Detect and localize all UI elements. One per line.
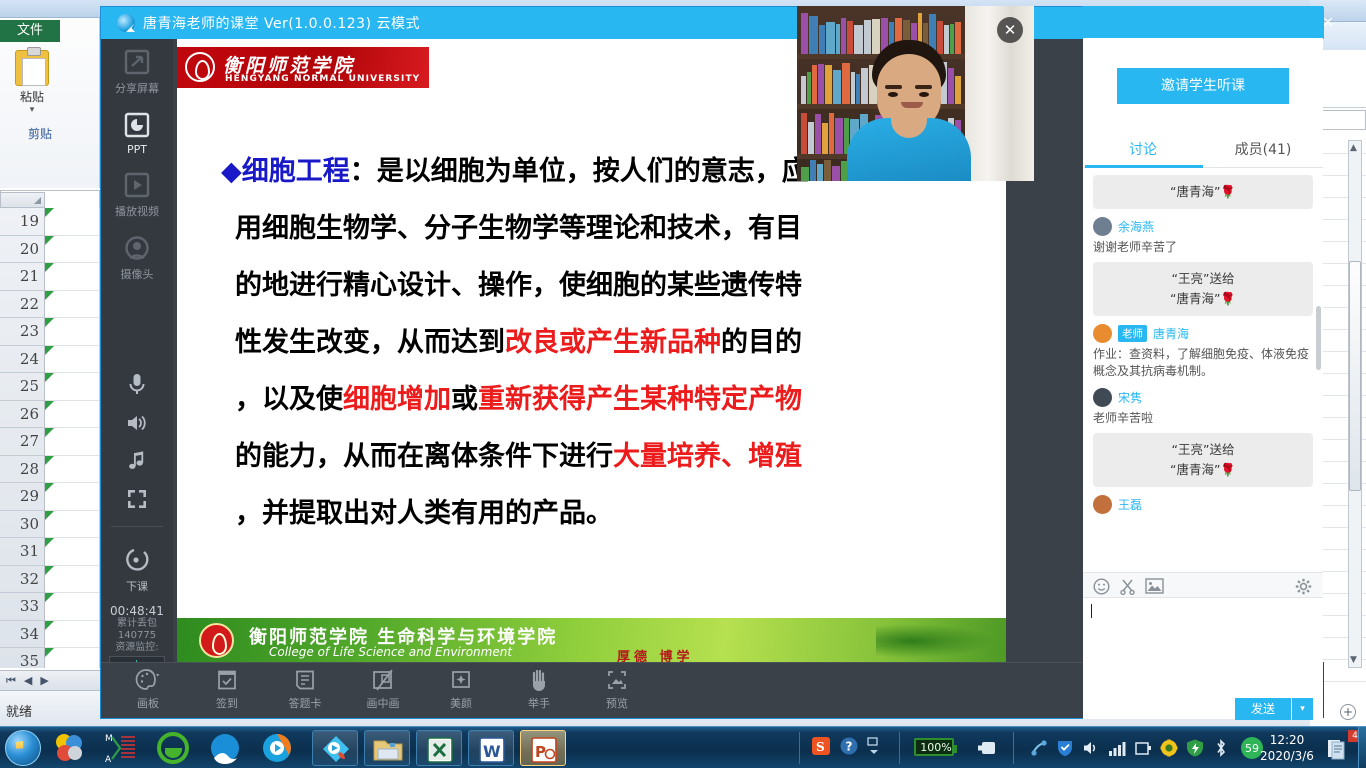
tray-divider-3: [1013, 732, 1014, 764]
excel-cell[interactable]: [45, 621, 99, 649]
book-spine: [809, 16, 818, 54]
excel-row-header[interactable]: 22: [0, 291, 44, 319]
sogou-input-icon[interactable]: S: [812, 737, 830, 755]
battery-percent: 100%: [916, 740, 956, 756]
chat-message-text: 老师辛苦啦: [1093, 410, 1313, 427]
emoji-icon[interactable]: [1093, 578, 1111, 595]
music-note-icon: [126, 450, 148, 472]
network-share-icon[interactable]: [1030, 739, 1048, 757]
svg-text:M: M: [105, 734, 113, 744]
excel-cell-column[interactable]: [45, 208, 100, 668]
chat-message-text: 谢谢老师辛苦了: [1093, 239, 1313, 256]
rail-item-camera[interactable]: 摄像头: [101, 225, 173, 288]
status-badge: 老师: [1118, 325, 1147, 342]
slide-header-en: HENGYANG NORMAL UNIVERSITY: [225, 74, 420, 84]
chevron-down-icon[interactable]: ▾: [4, 105, 60, 115]
volume-icon[interactable]: [1082, 739, 1100, 757]
book-spine: [801, 13, 808, 54]
excel-row-header[interactable]: 29: [0, 483, 44, 511]
classroom-logo-icon: [117, 14, 135, 32]
start-orb-icon[interactable]: [5, 730, 41, 766]
toolbar-item-raise-hand[interactable]: 举手: [508, 668, 570, 711]
excel-row-header[interactable]: 31: [0, 538, 44, 566]
class-timer: 00:48:41: [101, 604, 173, 618]
taskbar-window-excel[interactable]: [416, 730, 462, 766]
figure-mouth: [901, 102, 923, 108]
figure-eye-right: [919, 92, 929, 97]
slide-bullet-icon: ◆: [221, 156, 242, 187]
excel-right-formula-bar[interactable]: [1320, 110, 1366, 130]
chat-message: 余海燕谢谢老师辛苦了: [1093, 217, 1313, 256]
power-plug-icon[interactable]: [978, 740, 996, 758]
image-icon[interactable]: [1145, 578, 1163, 595]
excel-clipboard-group-label: 剪贴: [28, 125, 52, 142]
excel-row-header[interactable]: 27: [0, 428, 44, 456]
windows-taskbar: M A: [0, 726, 1366, 768]
sheet-first-icon[interactable]: ⏮: [6, 674, 16, 688]
rail-item-play-video[interactable]: 播放视频: [101, 162, 173, 225]
ppt-icon: [122, 110, 152, 140]
svg-text:P: P: [535, 743, 546, 761]
rail-item-ppt[interactable]: PPT: [101, 102, 173, 162]
slide-text-segment: ，并提取出对人类有用的产品。: [235, 498, 613, 529]
help-icon[interactable]: ?: [840, 737, 858, 755]
rail-item-music[interactable]: [101, 444, 173, 482]
excel-row-header[interactable]: 23: [0, 318, 44, 346]
chat-message-author[interactable]: 王磊: [1118, 496, 1142, 513]
excel-cell[interactable]: [45, 318, 99, 346]
book-spine: [835, 118, 843, 154]
microphone-icon: [126, 372, 148, 396]
book-spine: [801, 76, 806, 104]
svg-text:S: S: [816, 740, 825, 754]
clock-time: 12:20: [1254, 732, 1320, 748]
resource-monitor-label: 资源监控:: [101, 642, 173, 654]
book-spine: [824, 160, 831, 181]
slide-footer-en: College of Life Science and Environment: [269, 645, 512, 659]
scroll-up-arrow-icon[interactable]: ▲: [1350, 143, 1357, 153]
excel-sheet-navigation[interactable]: ⏮ ◀ ▶: [0, 670, 100, 690]
show-desktop-button[interactable]: [1358, 727, 1366, 768]
taskbar-icon-mathtype[interactable]: M A: [104, 731, 138, 765]
slide-text-segment: 用细胞生物学、分子生物学等理论和技术，有目: [235, 213, 802, 244]
toolbar-label-palette: 画板: [117, 695, 179, 711]
toolbar-label-raise-hand: 举手: [508, 695, 570, 711]
toolbar-label-picture-in-picture: 画中画: [352, 695, 414, 711]
avatar[interactable]: [1093, 324, 1112, 343]
rail-item-fullscreen[interactable]: [101, 482, 173, 520]
book-spine: [822, 123, 828, 154]
slide-text-segment: 改良或产生新品种: [505, 327, 721, 358]
antivirus-shield-icon[interactable]: [1186, 739, 1204, 757]
chat-message-author[interactable]: 余海燕: [1118, 218, 1154, 235]
rail-label-ppt: PPT: [101, 143, 173, 156]
webcam-video-window[interactable]: ✕: [797, 6, 1034, 181]
excel-row-header[interactable]: 34: [0, 621, 44, 649]
gift-message-line: “王亮”送给: [1099, 440, 1307, 460]
send-button[interactable]: 发送: [1235, 698, 1291, 720]
tab-members[interactable]: 成员(41): [1203, 134, 1323, 167]
toolbar-item-palette[interactable]: 画板: [117, 668, 179, 711]
slide-colon: ：: [350, 156, 377, 187]
excel-vertical-scrollbar[interactable]: ▲ ▼: [1348, 140, 1362, 668]
toolbar-item-checkin[interactable]: 签到: [196, 668, 258, 711]
bluetooth-icon[interactable]: [1212, 739, 1230, 757]
book-spine: [819, 25, 825, 54]
battery-indicator[interactable]: 100%: [914, 738, 954, 756]
excel-row-header[interactable]: 19: [0, 208, 44, 236]
chat-input-toolbar: [1083, 572, 1323, 598]
network-signal-icon[interactable]: [1108, 739, 1126, 757]
excel-cell[interactable]: [45, 483, 99, 511]
excel-cell[interactable]: [45, 373, 99, 401]
gift-message-line: “唐青海”🌹: [1099, 460, 1307, 480]
scrollbar-thumb[interactable]: [1349, 261, 1361, 491]
chat-message-header: 王磊: [1093, 495, 1313, 514]
gift-message-line: “唐青海”🌹: [1099, 289, 1307, 309]
chat-message-text: 作业：查资料，了解细胞免疫、体液免疫概念及其抗病毒机制。: [1093, 346, 1313, 380]
excel-row-header[interactable]: 21: [0, 263, 44, 291]
excel-row-header[interactable]: 24: [0, 346, 44, 374]
tray-expand-icon[interactable]: [866, 736, 884, 754]
excel-row-header[interactable]: 30: [0, 511, 44, 539]
taskbar-window-word[interactable]: W: [468, 730, 514, 766]
chat-scrollbar-thumb[interactable]: [1316, 306, 1321, 370]
excel-cell[interactable]: [45, 566, 99, 594]
taskbar-icon-browser-360[interactable]: [156, 731, 190, 765]
slide-text-segment: 性发生改变，从而达到: [235, 327, 505, 358]
screen-root: 文件 粘贴 ▾ 剪贴 19202122232425262728293031323…: [0, 0, 1366, 768]
slide-text-body: ◆细胞工程：是以细胞为单位，按人们的意志，应用细胞生物学、分子生物学等理论和技术…: [221, 143, 996, 542]
excel-cell[interactable]: [45, 263, 99, 291]
security-shield-icon[interactable]: [1056, 739, 1074, 757]
scroll-down-arrow-icon[interactable]: ▼: [1350, 655, 1357, 665]
taskbar-icon-windows-media[interactable]: [52, 731, 86, 765]
book-spine: [812, 65, 817, 104]
chat-message-header: 余海燕: [1093, 217, 1313, 236]
chat-input-field[interactable]: [1083, 598, 1323, 692]
picture-in-picture-icon: [370, 668, 396, 692]
excel-cell[interactable]: [45, 648, 99, 668]
slide-header-banner: 衡阳师范学院 HENGYANG NORMAL UNIVERSITY: [177, 47, 429, 88]
chat-message: 宋隽老师辛苦啦: [1093, 388, 1313, 427]
gift-message-line: “唐青海”🌹: [1099, 182, 1307, 202]
beauty-filter-icon: [448, 668, 474, 692]
settings-gear-icon[interactable]: [1295, 578, 1313, 595]
slide-text-segment: ，以及使: [235, 384, 343, 415]
excel-cell[interactable]: [45, 401, 99, 429]
book-spine: [807, 72, 811, 104]
excel-status-text: 就绪: [6, 701, 32, 720]
clipboard-icon: [15, 50, 49, 86]
invite-students-button[interactable]: 邀请学生听课: [1117, 68, 1289, 104]
book-spine: [825, 65, 832, 104]
rail-label-end-class: 下课: [101, 578, 173, 594]
gift-message-bubble: “王亮”送给“唐青海”🌹: [1093, 262, 1313, 316]
fullscreen-icon: [126, 488, 148, 510]
rail-item-share-screen[interactable]: 分享屏幕: [101, 39, 173, 102]
book-spine: [815, 114, 821, 154]
notification-center-icon[interactable]: [1326, 738, 1346, 760]
book-spine: [833, 70, 841, 104]
book-spine: [842, 63, 850, 104]
scissors-icon[interactable]: [1119, 578, 1137, 595]
tab-discussion[interactable]: 讨论: [1083, 134, 1203, 167]
tray-divider-2: [899, 732, 900, 764]
taskbar-window-powerpoint[interactable]: P: [520, 730, 566, 766]
rail-item-speaker[interactable]: [101, 406, 173, 444]
chat-panel: 邀请学生听课 讨论 成员(41) “唐青海”🌹余海燕谢谢老师辛苦了“王亮”送给“…: [1083, 6, 1323, 719]
taskbar-icon-qq-browser[interactable]: [208, 731, 242, 765]
slide-title-term: 细胞工程: [242, 156, 350, 187]
excel-row-header[interactable]: 33: [0, 593, 44, 621]
figure-brow-left: [885, 85, 902, 89]
rail-label-share-screen: 分享屏幕: [101, 80, 173, 96]
gift-message-line: “王亮”送给: [1099, 269, 1307, 289]
chat-message-list[interactable]: “唐青海”🌹余海燕谢谢老师辛苦了“王亮”送给“唐青海”🌹老师唐青海作业：查资料，…: [1083, 169, 1323, 569]
excel-select-all-corner[interactable]: [0, 192, 45, 208]
excel-paste-label: 粘贴: [4, 88, 60, 105]
slide-text-segment: 细胞增加: [343, 384, 451, 415]
slide-text-segment: 的目的: [721, 327, 802, 358]
rail-item-end-class[interactable]: 下课: [101, 533, 173, 600]
preview-icon: [604, 668, 630, 692]
rail-divider: [111, 526, 163, 527]
send-options-chevron-down-icon[interactable]: ▾: [1292, 698, 1313, 720]
end-class-icon: [122, 545, 152, 575]
excel-row-header[interactable]: 32: [0, 566, 44, 594]
toolbar-item-answer-card[interactable]: 答题卡: [274, 668, 336, 711]
book-spine: [829, 113, 834, 154]
toolbar-item-preview[interactable]: 预览: [586, 668, 648, 711]
slide-line: 的能力，从而在离体条件下进行大量培养、增殖: [221, 428, 996, 485]
svg-text:?: ?: [846, 740, 853, 754]
slide-line: 的地进行精心设计、操作，使细胞的某些遗传特: [221, 257, 996, 314]
avatar[interactable]: [1093, 388, 1112, 407]
excel-row-header[interactable]: 26: [0, 401, 44, 429]
packet-loss-value: 140775: [101, 630, 173, 642]
chat-panel-header: [1083, 6, 1323, 38]
active-tab-underline: [1085, 165, 1203, 168]
gift-message-bubble: “王亮”送给“唐青海”🌹: [1093, 433, 1313, 487]
close-icon[interactable]: ✕: [997, 17, 1023, 43]
slide-text-segment: 的能力，从而在离体条件下进行: [235, 441, 613, 472]
chat-message: 王磊: [1093, 495, 1313, 514]
share-screen-icon: [122, 47, 152, 77]
excel-cell[interactable]: [45, 291, 99, 319]
chat-message-author[interactable]: 宋隽: [1118, 389, 1142, 406]
excel-cell[interactable]: [45, 346, 99, 374]
book-spine: [818, 64, 824, 104]
book-spine: [801, 167, 809, 181]
chat-message-author[interactable]: 唐青海: [1153, 325, 1189, 342]
taskbar-clock[interactable]: 12:20 2020/3/6: [1254, 732, 1320, 764]
rail-label-camera: 摄像头: [101, 266, 173, 282]
taskbar-window-explorer[interactable]: [364, 730, 410, 766]
packet-loss-label: 累计丢包: [101, 618, 173, 630]
book-spine: [808, 122, 814, 154]
excel-cell[interactable]: [45, 538, 99, 566]
chat-tabs: 讨论 成员(41): [1083, 134, 1323, 168]
slide-text-segment: 的地进行精心设计、操作，使细胞的某些遗传特: [235, 270, 802, 301]
svg-text:W: W: [483, 742, 501, 761]
clock-date: 2020/3/6: [1254, 748, 1320, 764]
book-spine: [817, 164, 823, 181]
teacher-video-figure: [853, 40, 965, 181]
excel-cell[interactable]: [45, 208, 99, 236]
toolbar-item-picture-in-picture[interactable]: 画中画: [352, 668, 414, 711]
leaf-decoration-icon: [876, 624, 996, 658]
book-spine: [801, 113, 807, 154]
book-spine: [832, 166, 840, 181]
slide-line: 性发生改变，从而达到改良或产生新品种的目的: [221, 314, 996, 371]
excel-cell[interactable]: [45, 428, 99, 456]
excel-right-ribbon-body: [1320, 50, 1366, 108]
taskbar-window-classroom[interactable]: [312, 730, 358, 766]
slide-line: ，并提取出对人类有用的产品。: [221, 485, 996, 542]
avatar[interactable]: [1093, 217, 1112, 236]
sheet-next-icon[interactable]: ▶: [40, 674, 48, 687]
toolbar-item-beauty-filter[interactable]: 美颜: [430, 668, 492, 711]
gift-message-bubble: “唐青海”🌹: [1093, 175, 1313, 209]
slide-text-segment: 重新获得产生某种特定产物: [478, 384, 802, 415]
svg-text:A: A: [105, 755, 112, 765]
slide-text-segment: 大量培养、增殖: [613, 441, 802, 472]
chat-message-header: 老师唐青海: [1093, 324, 1313, 343]
book-spine: [826, 22, 835, 54]
university-seal-icon: [185, 52, 215, 82]
usb-eject-icon[interactable]: [1134, 739, 1152, 757]
avatar[interactable]: [1093, 495, 1112, 514]
text-caret: [1091, 604, 1092, 618]
palette-icon: [135, 668, 161, 692]
excel-row-header[interactable]: 20: [0, 236, 44, 264]
speaker-icon: [125, 412, 149, 434]
toolbar-label-beauty-filter: 美颜: [430, 695, 492, 711]
excel-cell[interactable]: [45, 511, 99, 539]
play-video-icon: [122, 170, 152, 200]
toolbar-label-preview: 预览: [586, 695, 648, 711]
slide-line: 用细胞生物学、分子生物学等理论和技术，有目: [221, 200, 996, 257]
toolbar-label-answer-card: 答题卡: [274, 695, 336, 711]
raise-hand-icon: [526, 668, 552, 692]
chat-message: 老师唐青海作业：查资料，了解细胞免疫、体液免疫概念及其抗病毒机制。: [1093, 324, 1313, 380]
left-tool-rail: 分享屏幕 PPT 播放视频: [101, 39, 173, 718]
book-spine: [836, 24, 840, 54]
excel-row-headers: 1920212223242526272829303132333435363738…: [0, 208, 45, 668]
excel-cell[interactable]: [45, 593, 99, 621]
answer-card-icon: [292, 668, 318, 692]
sheet-prev-icon[interactable]: ◀: [24, 674, 32, 687]
app-title: 唐青海老师的课堂 Ver(1.0.0.123) 云模式: [143, 13, 420, 33]
chat-message-header: 宋隽: [1093, 388, 1313, 407]
excel-file-tab[interactable]: 文件: [0, 20, 60, 42]
slide-text-segment: 或: [451, 384, 478, 415]
checkin-icon: [214, 668, 240, 692]
slide-line: ，以及使细胞增加或重新获得产生某种特定产物: [221, 371, 996, 428]
college-seal-icon: [199, 623, 234, 658]
excel-paste-button[interactable]: 粘贴 ▾: [4, 50, 60, 115]
excel-row-header[interactable]: 28: [0, 456, 44, 484]
driver-booster-icon[interactable]: [1160, 739, 1178, 757]
slide-text-segment: 是以细胞为单位，按人们的意志，应: [377, 156, 809, 187]
book-spine: [841, 18, 846, 54]
rail-label-play-video: 播放视频: [101, 203, 173, 219]
taskbar-icon-media-player[interactable]: [260, 731, 294, 765]
camera-icon: [122, 233, 152, 263]
excel-cell[interactable]: [45, 236, 99, 264]
figure-eye-left: [888, 92, 898, 97]
toolbar-label-checkin: 签到: [196, 695, 258, 711]
slide-footer-banner: 衡阳师范学院 生命科学与环境学院 College of Life Science…: [177, 618, 1006, 664]
book-spine: [810, 160, 816, 181]
rail-item-microphone[interactable]: [101, 366, 173, 406]
figure-brow-right: [915, 85, 932, 89]
tray-divider-1: [799, 732, 800, 764]
add-sheet-icon[interactable]: +: [1340, 704, 1356, 720]
excel-row-header[interactable]: 25: [0, 373, 44, 401]
excel-cell[interactable]: [45, 456, 99, 484]
